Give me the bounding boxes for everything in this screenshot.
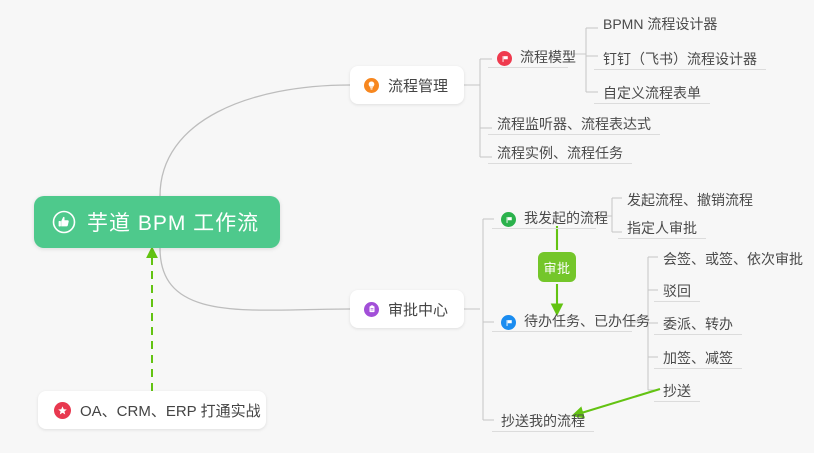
leaf-label: 自定义流程表单 — [603, 86, 701, 100]
leaf-reject[interactable]: 驳回 — [654, 274, 700, 302]
approval-tag[interactable]: 审批 — [538, 252, 576, 282]
root-node-label: 芋道 BPM 工作流 — [87, 207, 259, 237]
flag-icon — [497, 51, 512, 66]
branch-node-label: 审批中心 — [388, 299, 448, 320]
approval-tag-label: 审批 — [543, 258, 570, 277]
leaf-label: 抄送我的流程 — [501, 414, 585, 428]
leaf-label: 加签、减签 — [663, 351, 733, 365]
bottom-note-label: OA、CRM、ERP 打通实战 — [80, 400, 261, 421]
leaf-start-cancel-process[interactable]: 发起流程、撤销流程 — [618, 182, 762, 210]
leaf-delegate-transfer[interactable]: 委派、转办 — [654, 307, 742, 335]
leaf-dingtalk-feishu-designer[interactable]: 钉钉（飞书）流程设计器 — [594, 42, 766, 70]
star-icon — [54, 402, 71, 419]
leaf-label: 我发起的流程 — [524, 211, 608, 225]
leaf-listener-expression[interactable]: 流程监听器、流程表达式 — [488, 107, 660, 135]
mindmap-canvas: 芋道 BPM 工作流 流程管理 流程模型 — [0, 0, 814, 453]
leaf-todo-done-task[interactable]: 待办任务、已办任务 — [492, 304, 632, 332]
leaf-cc[interactable]: 抄送 — [654, 374, 700, 402]
leaf-cc-to-me[interactable]: 抄送我的流程 — [492, 404, 594, 432]
root-node[interactable]: 芋道 BPM 工作流 — [34, 196, 280, 248]
leaf-instance-task[interactable]: 流程实例、流程任务 — [488, 136, 632, 164]
leaf-liucheng-moxing[interactable]: 流程模型 — [488, 40, 568, 68]
leaf-label: 待办任务、已办任务 — [524, 314, 650, 328]
flag-icon — [501, 212, 516, 227]
lightbulb-icon — [364, 78, 379, 93]
leaf-label: 发起流程、撤销流程 — [627, 193, 753, 207]
leaf-add-remove-sign[interactable]: 加签、减签 — [654, 341, 742, 369]
branch-node-label: 流程管理 — [388, 75, 448, 96]
leaf-label: 委派、转办 — [663, 317, 733, 331]
leaf-custom-form[interactable]: 自定义流程表单 — [594, 76, 710, 104]
leaf-label: 驳回 — [663, 284, 691, 298]
leaf-bpmn-designer[interactable]: BPMN 流程设计器 — [594, 6, 726, 34]
thumbs-up-icon — [52, 210, 76, 234]
leaf-label: 会签、或签、依次审批 — [663, 252, 803, 266]
branch-node-shenpi-zhongxin[interactable]: 审批中心 — [350, 290, 464, 328]
leaf-label: 钉钉（飞书）流程设计器 — [603, 52, 757, 66]
leaf-label: 抄送 — [663, 384, 691, 398]
leaf-label: 流程模型 — [520, 50, 576, 64]
leaf-label: 流程监听器、流程表达式 — [497, 117, 651, 131]
leaf-label: BPMN 流程设计器 — [603, 17, 717, 31]
leaf-label: 指定人审批 — [627, 221, 697, 235]
leaf-multi-sign[interactable]: 会签、或签、依次审批 — [654, 241, 812, 269]
bottom-note-node[interactable]: OA、CRM、ERP 打通实战 — [38, 391, 266, 429]
clipboard-icon — [364, 302, 379, 317]
flag-icon — [501, 315, 516, 330]
branch-node-liucheng-guanli[interactable]: 流程管理 — [350, 66, 464, 104]
leaf-my-started-process[interactable]: 我发起的流程 — [492, 201, 596, 229]
leaf-label: 流程实例、流程任务 — [497, 146, 623, 160]
leaf-assignee-approval[interactable]: 指定人审批 — [618, 211, 706, 239]
